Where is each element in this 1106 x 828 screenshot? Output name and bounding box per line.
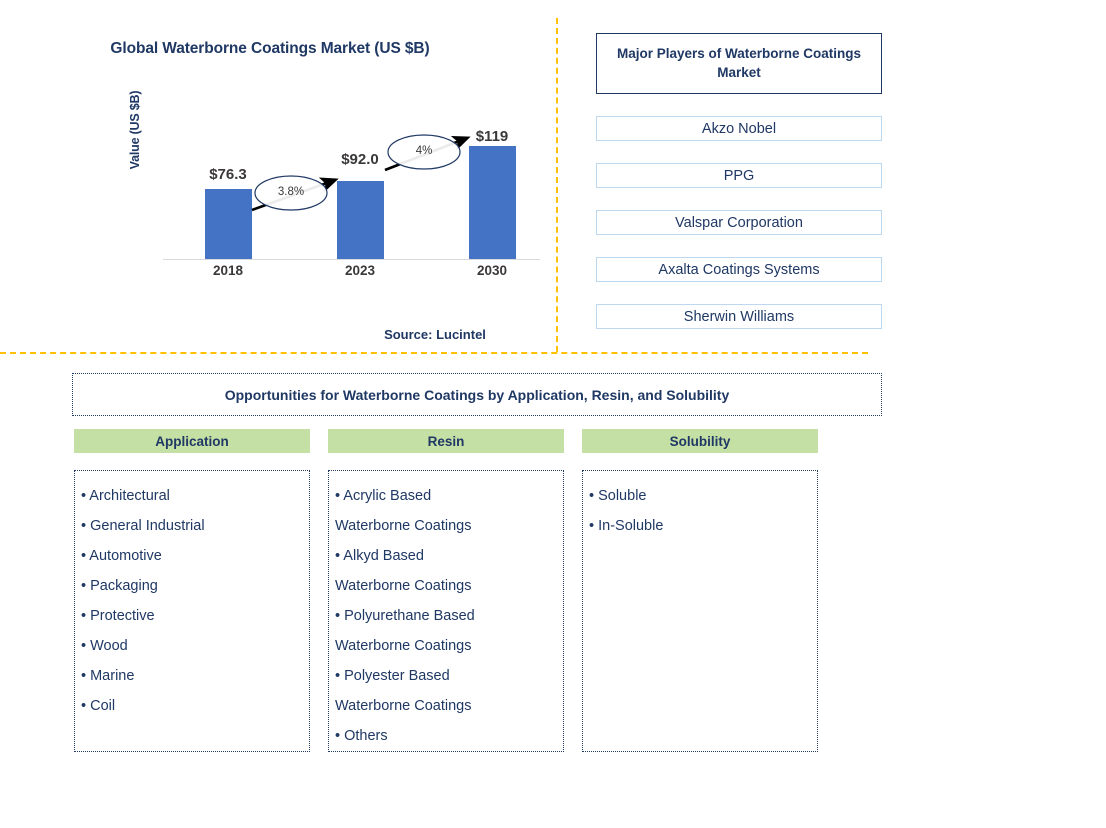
cagr-annotations [0, 18, 556, 352]
list-item: • Protective [81, 601, 303, 631]
x-tick-2018: 2018 [193, 263, 263, 278]
list-item: • Architectural [81, 481, 303, 511]
x-tick-2030: 2030 [457, 263, 527, 278]
player-item-akzo-nobel[interactable]: Akzo Nobel [596, 116, 882, 141]
list-item: • Polyurethane Based Waterborne Coatings [335, 601, 557, 661]
list-item: • Automotive [81, 541, 303, 571]
opportunities-columns: Application • Architectural • General In… [0, 429, 1106, 759]
list-item: • Wood [81, 631, 303, 661]
cagr-label-2: 4% [394, 145, 454, 157]
opportunity-column-application: Application • Architectural • General In… [74, 429, 310, 752]
list-item: • Alkyd Based Waterborne Coatings [335, 541, 557, 601]
player-label: PPG [724, 168, 755, 184]
vertical-divider [556, 18, 558, 352]
list-item: • In-Soluble [589, 511, 811, 541]
major-players-header: Major Players of Waterborne Coatings Mar… [596, 33, 882, 94]
column-body-solubility: • Soluble • In-Soluble [582, 470, 818, 752]
opportunities-title: Opportunities for Waterborne Coatings by… [72, 373, 882, 416]
x-tick-2023: 2023 [325, 263, 395, 278]
player-label: Sherwin Williams [684, 309, 794, 325]
player-label: Valspar Corporation [675, 215, 803, 231]
player-item-ppg[interactable]: PPG [596, 163, 882, 188]
column-body-application: • Architectural • General Industrial • A… [74, 470, 310, 752]
opportunity-column-solubility: Solubility • Soluble • In-Soluble [582, 429, 818, 752]
column-header-resin: Resin [328, 429, 564, 453]
infographic-canvas: Global Waterborne Coatings Market (US $B… [0, 0, 1106, 828]
list-item: • Packaging [81, 571, 303, 601]
list-item: • Coil [81, 691, 303, 721]
source-note: Source: Lucintel [330, 327, 540, 342]
player-item-sherwin-williams[interactable]: Sherwin Williams [596, 304, 882, 329]
list-item: • Others [335, 721, 557, 751]
column-body-resin: • Acrylic Based Waterborne Coatings • Al… [328, 470, 564, 752]
column-header-solubility: Solubility [582, 429, 818, 453]
column-header-application: Application [74, 429, 310, 453]
list-item: • General Industrial [81, 511, 303, 541]
opportunity-column-resin: Resin • Acrylic Based Waterborne Coating… [328, 429, 564, 752]
list-item: • Marine [81, 661, 303, 691]
horizontal-divider [0, 352, 868, 354]
major-players-panel: Major Players of Waterborne Coatings Mar… [596, 33, 882, 329]
market-chart-panel: Global Waterborne Coatings Market (US $B… [0, 18, 556, 352]
list-item: • Soluble [589, 481, 811, 511]
list-item: • Polyester Based Waterborne Coatings [335, 661, 557, 721]
player-label: Axalta Coatings Systems [658, 262, 819, 278]
player-label: Akzo Nobel [702, 121, 776, 137]
player-item-axalta-coatings-systems[interactable]: Axalta Coatings Systems [596, 257, 882, 282]
player-item-valspar-corporation[interactable]: Valspar Corporation [596, 210, 882, 235]
cagr-label-1: 3.8% [261, 186, 321, 198]
list-item: • Acrylic Based Waterborne Coatings [335, 481, 557, 541]
